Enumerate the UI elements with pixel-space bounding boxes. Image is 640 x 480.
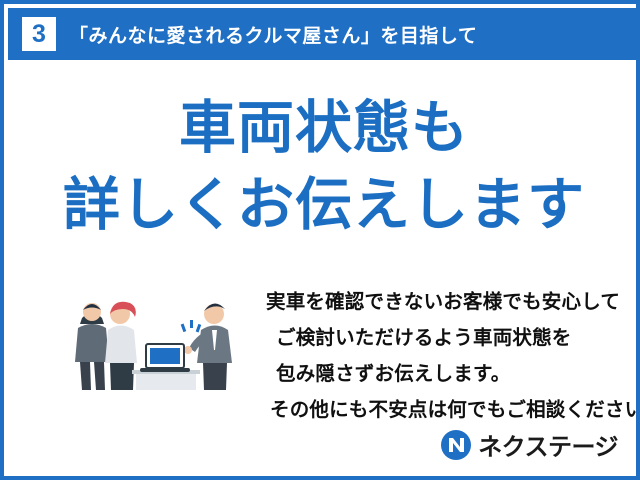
- body-copy-line-3: 包み隠さずお伝えします。: [266, 356, 626, 392]
- body-copy: 実車を確認できないお客様でも安心して ご検討いただけるよう車両状態を 包み隠さず…: [266, 284, 626, 428]
- staff-and-customers-illustration: [66, 284, 256, 394]
- n-mark-icon: [440, 429, 472, 461]
- promo-page: 3 「みんなに愛されるクルマ屋さん」を目指して 車両状態も 詳しくお伝えします: [0, 0, 640, 480]
- headline-line-2: 詳しくお伝えします: [4, 167, 640, 244]
- body-copy-line-4: その他にも不安点は何でもご相談ください。: [266, 392, 626, 428]
- header-bar: 3 「みんなに愛されるクルマ屋さん」を目指して: [8, 8, 640, 60]
- step-number-badge: 3: [22, 17, 56, 51]
- headline: 車両状態も 詳しくお伝えします: [4, 90, 640, 244]
- body-copy-line-2: ご検討いただけるよう車両状態を: [266, 320, 626, 356]
- body-copy-line-1: 実車を確認できないお客様でも安心して: [266, 284, 626, 320]
- headline-line-1: 車両状態も: [179, 96, 469, 160]
- brand-footer: ネクステージ: [440, 427, 618, 462]
- header-title: 「みんなに愛されるクルマ屋さん」を目指して: [69, 21, 477, 48]
- brand-name: ネクステージ: [478, 427, 618, 462]
